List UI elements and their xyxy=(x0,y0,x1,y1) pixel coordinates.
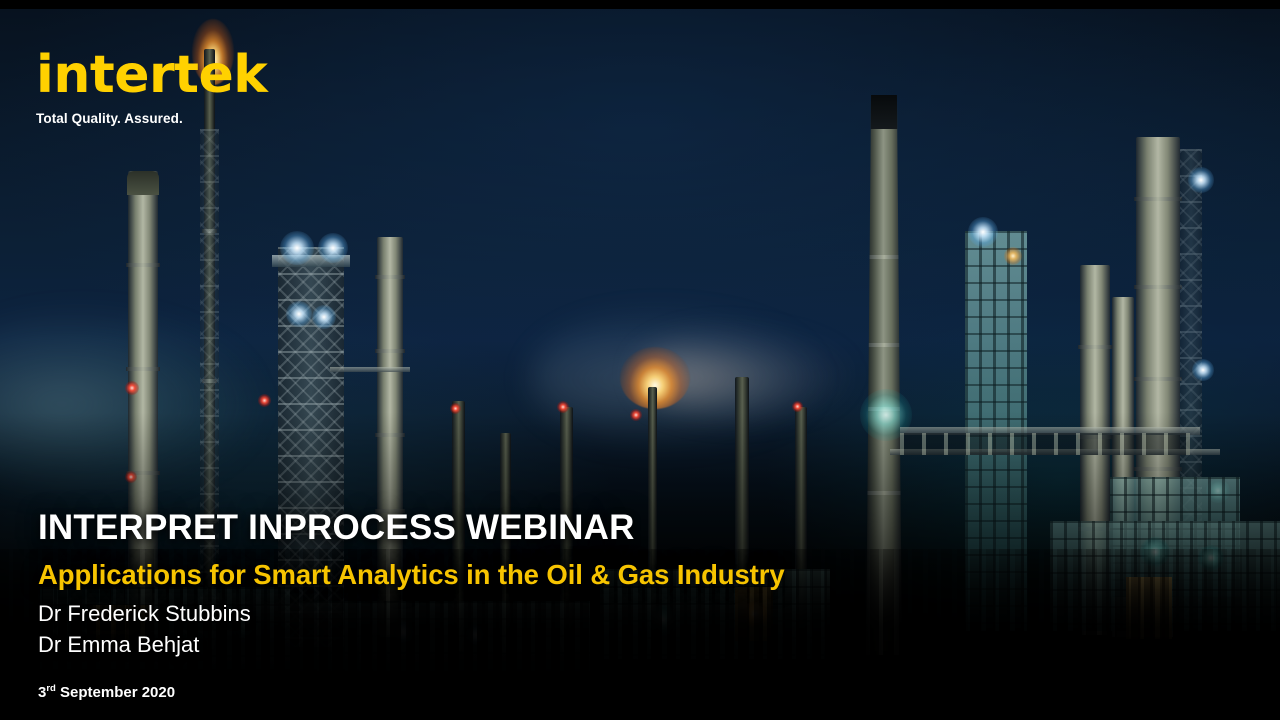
pipe-rack-truss-right xyxy=(900,433,1190,455)
date-rest: September 2020 xyxy=(56,684,175,701)
presenter-name: Dr Frederick Stubbins xyxy=(38,598,998,629)
flood-light-lattice-d xyxy=(312,305,336,329)
flood-light-lattice-a xyxy=(280,231,314,265)
presenter-name: Dr Emma Behjat xyxy=(38,629,998,660)
beacon-light-right-b xyxy=(792,401,803,412)
letterbox-bar-top xyxy=(0,0,1280,9)
flood-light-lattice-b xyxy=(318,233,348,263)
intertek-logo: intertek Total Quality. Assured. xyxy=(36,48,267,126)
pipe-bridge-center-left xyxy=(330,367,410,372)
logo-tagline: Total Quality. Assured. xyxy=(36,111,267,126)
slide-subtitle: Applications for Smart Analytics in the … xyxy=(38,558,998,592)
slide-text-block: INTERPRET INPROCESS WEBINAR Applications… xyxy=(38,506,998,702)
beacon-light-chimney-left-top xyxy=(125,381,139,395)
presenter-list: Dr Frederick Stubbins Dr Emma Behjat xyxy=(38,598,998,660)
beacon-light-flare-center xyxy=(630,409,642,421)
beacon-light-mid-c xyxy=(557,401,569,413)
flood-light-vessel-right xyxy=(968,217,998,247)
slide-date: 3rd September 2020 xyxy=(38,680,998,702)
flood-light-lattice-c xyxy=(286,301,312,327)
beacon-light-chimney-left-bottom xyxy=(125,471,137,483)
logo-wordmark: intertek xyxy=(36,48,267,102)
slide-title: INTERPRET INPROCESS WEBINAR xyxy=(38,506,998,550)
beacon-light-vessel-right xyxy=(1004,247,1022,265)
flood-light-right-column-top xyxy=(1188,167,1214,193)
presentation-slide: intertek Total Quality. Assured. INTERPR… xyxy=(0,0,1280,720)
date-ordinal: rd xyxy=(46,683,56,694)
beacon-light-mid-a xyxy=(450,403,461,414)
beacon-light-lattice xyxy=(258,394,271,407)
flood-light-right-column-mid xyxy=(1192,359,1214,381)
